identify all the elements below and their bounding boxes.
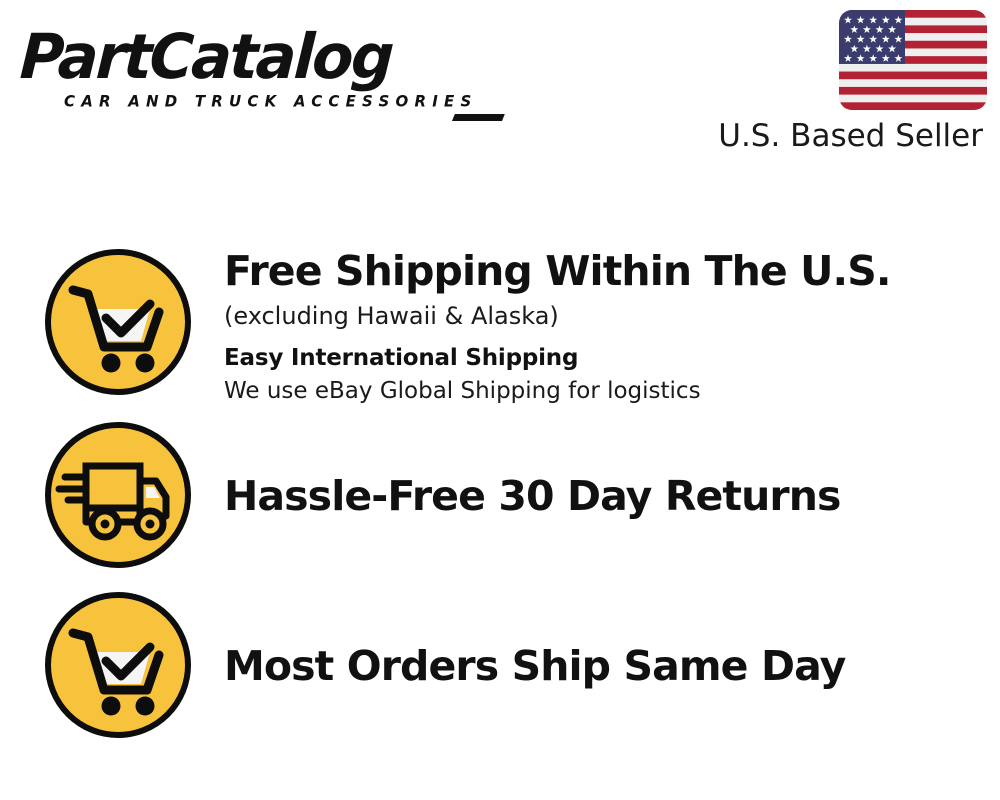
delivery-truck-icon (42, 419, 194, 571)
feature-text: Most Orders Ship Same Day (224, 589, 1000, 691)
feature-subtitle: (excluding Hawaii & Alaska) (224, 299, 1000, 333)
shopping-cart-check-icon (42, 589, 194, 741)
brand-wordmark: PartCatalog (18, 22, 393, 92)
brand-tagline: CAR AND TRUCK ACCESSORIES (64, 92, 477, 111)
feature-title: Hassle-Free 30 Day Returns (224, 471, 1000, 521)
feature-row: Hassle-Free 30 Day Returns (0, 419, 1000, 579)
feature-sub-note: We use eBay Global Shipping for logistic… (224, 375, 1000, 407)
brand-logo[interactable]: PartCatalog CAR AND TRUCK ACCESSORIES (22, 22, 492, 112)
page-header: PartCatalog CAR AND TRUCK ACCESSORIES (0, 0, 1000, 175)
feature-text: Free Shipping Within The U.S. (excluding… (224, 246, 1000, 407)
us-flag-icon (839, 10, 987, 110)
feature-row: Free Shipping Within The U.S. (excluding… (0, 246, 1000, 406)
feature-text: Hassle-Free 30 Day Returns (224, 419, 1000, 521)
feature-title: Free Shipping Within The U.S. (224, 246, 1000, 296)
feature-sub-strong: Easy International Shipping (224, 342, 1000, 374)
feature-row: Most Orders Ship Same Day (0, 589, 1000, 749)
shopping-cart-check-icon (42, 246, 194, 398)
feature-title: Most Orders Ship Same Day (224, 641, 1000, 691)
us-based-seller-label: U.S. Based Seller (718, 117, 983, 155)
brand-tagline-rule (452, 114, 505, 121)
